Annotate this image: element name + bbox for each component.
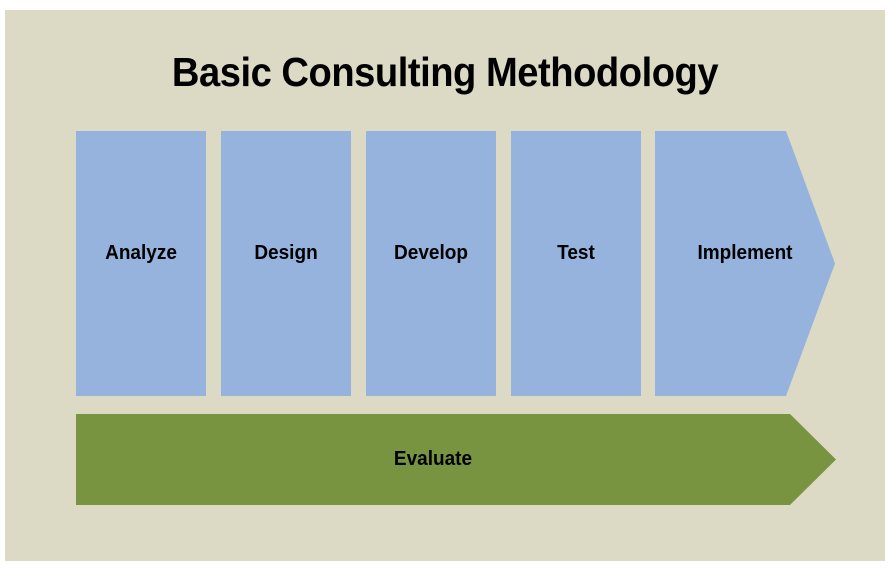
- process-stage-row: Analyze Design Develop Test Implement: [71, 121, 841, 406]
- process-stage-label-test: Test: [514, 121, 638, 386]
- evaluate-label: Evaluate: [94, 414, 772, 505]
- evaluate-arrow[interactable]: Evaluate: [71, 404, 841, 514]
- process-stage-label-design: Design: [224, 121, 348, 386]
- process-stage-label-develop: Develop: [369, 121, 493, 386]
- slide-canvas: Basic Consulting Methodology Analyze Des…: [5, 10, 885, 561]
- process-stage-label-implement: Implement: [660, 121, 831, 386]
- page-title: Basic Consulting Methodology: [36, 48, 854, 96]
- process-stage-label-analyze: Analyze: [79, 121, 203, 386]
